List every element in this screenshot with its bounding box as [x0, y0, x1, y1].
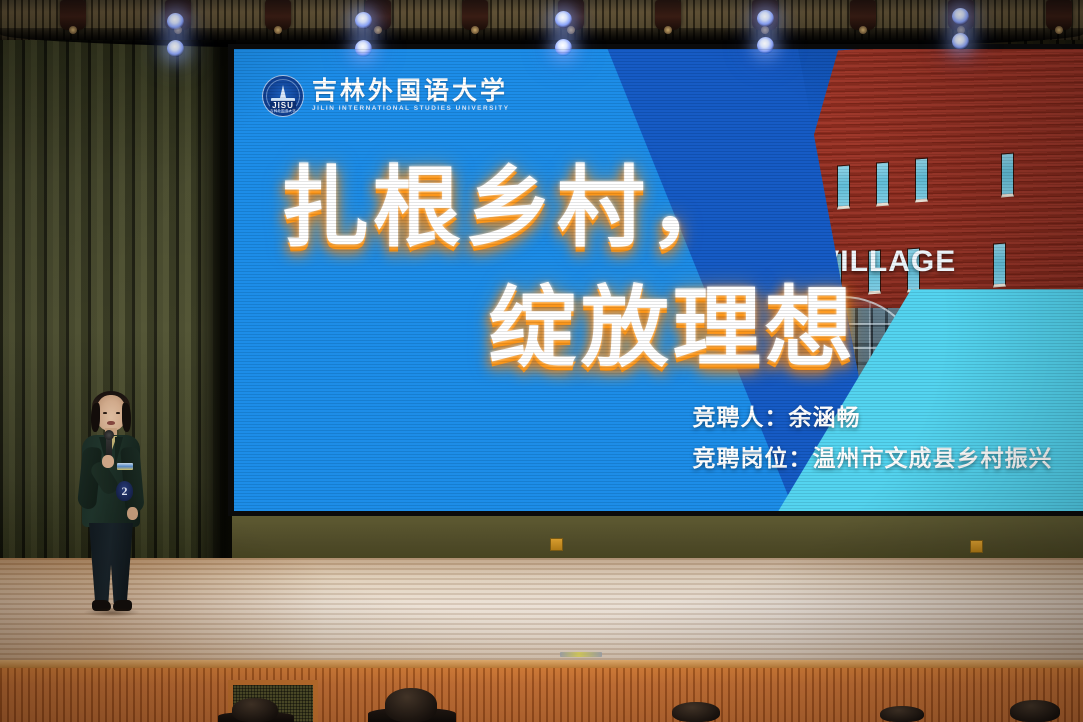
presenter-mouth	[107, 421, 115, 425]
university-seal-icon: JISU 吉林外国语大学	[262, 75, 304, 117]
stage-lamp	[167, 40, 184, 57]
presenter-hand	[102, 455, 114, 468]
wall-outlet	[970, 540, 983, 553]
audience-head	[1010, 700, 1060, 722]
seal-subtitle: 吉林外国语大学	[270, 108, 296, 113]
presenter-floor-shadow	[84, 608, 140, 617]
stage-lamp	[555, 39, 572, 56]
slide-headline-line1: 扎根乡村，	[281, 137, 741, 264]
presentation-slide: VILLAGE JISU 吉林外国语大学 吉林外国语大学 JILIN INTER…	[234, 49, 1083, 511]
university-name-cn: 吉林外国语大学	[312, 79, 510, 104]
presenter-trousers	[89, 523, 133, 603]
university-logo: JISU 吉林外国语大学 吉林外国语大学 JILIN INTERNATIONAL…	[262, 75, 510, 117]
presenter-position-line: 竞聘岗位：温州市文成县乡村振兴	[692, 439, 1052, 473]
wall-outlet	[550, 538, 563, 551]
presenter-name-line: 竞聘人：余涵畅	[692, 398, 1052, 432]
led-screen-bezel: VILLAGE JISU 吉林外国语大学 吉林外国语大学 JILIN INTER…	[228, 44, 1083, 516]
floor-tape-marker	[560, 652, 602, 657]
audience-head	[232, 698, 278, 722]
presenter-ribbon-badge	[117, 463, 133, 470]
stage-lamp	[355, 40, 372, 57]
audience-head	[385, 688, 437, 722]
slide-presenter-info: 竞聘人：余涵畅 竞聘岗位：温州市文成县乡村振兴	[692, 398, 1052, 473]
university-name-en: JILIN INTERNATIONAL STUDIES UNIVERSITY	[312, 105, 510, 112]
audience-head	[880, 706, 924, 722]
auditorium-stage-scene: VILLAGE JISU 吉林外国语大学 吉林外国语大学 JILIN INTER…	[0, 0, 1083, 722]
stage-floor	[0, 558, 1083, 668]
presenter-number-badge: 2	[116, 481, 133, 501]
audience-head	[672, 702, 720, 722]
stage-back-wall	[232, 516, 1083, 562]
slide-headline-line2: 绽放理想	[489, 257, 857, 384]
presenter-figure: 2	[78, 395, 144, 625]
stage-lamp	[952, 33, 969, 50]
stage-lamp	[757, 37, 774, 54]
presenter-hand-right	[127, 507, 138, 520]
